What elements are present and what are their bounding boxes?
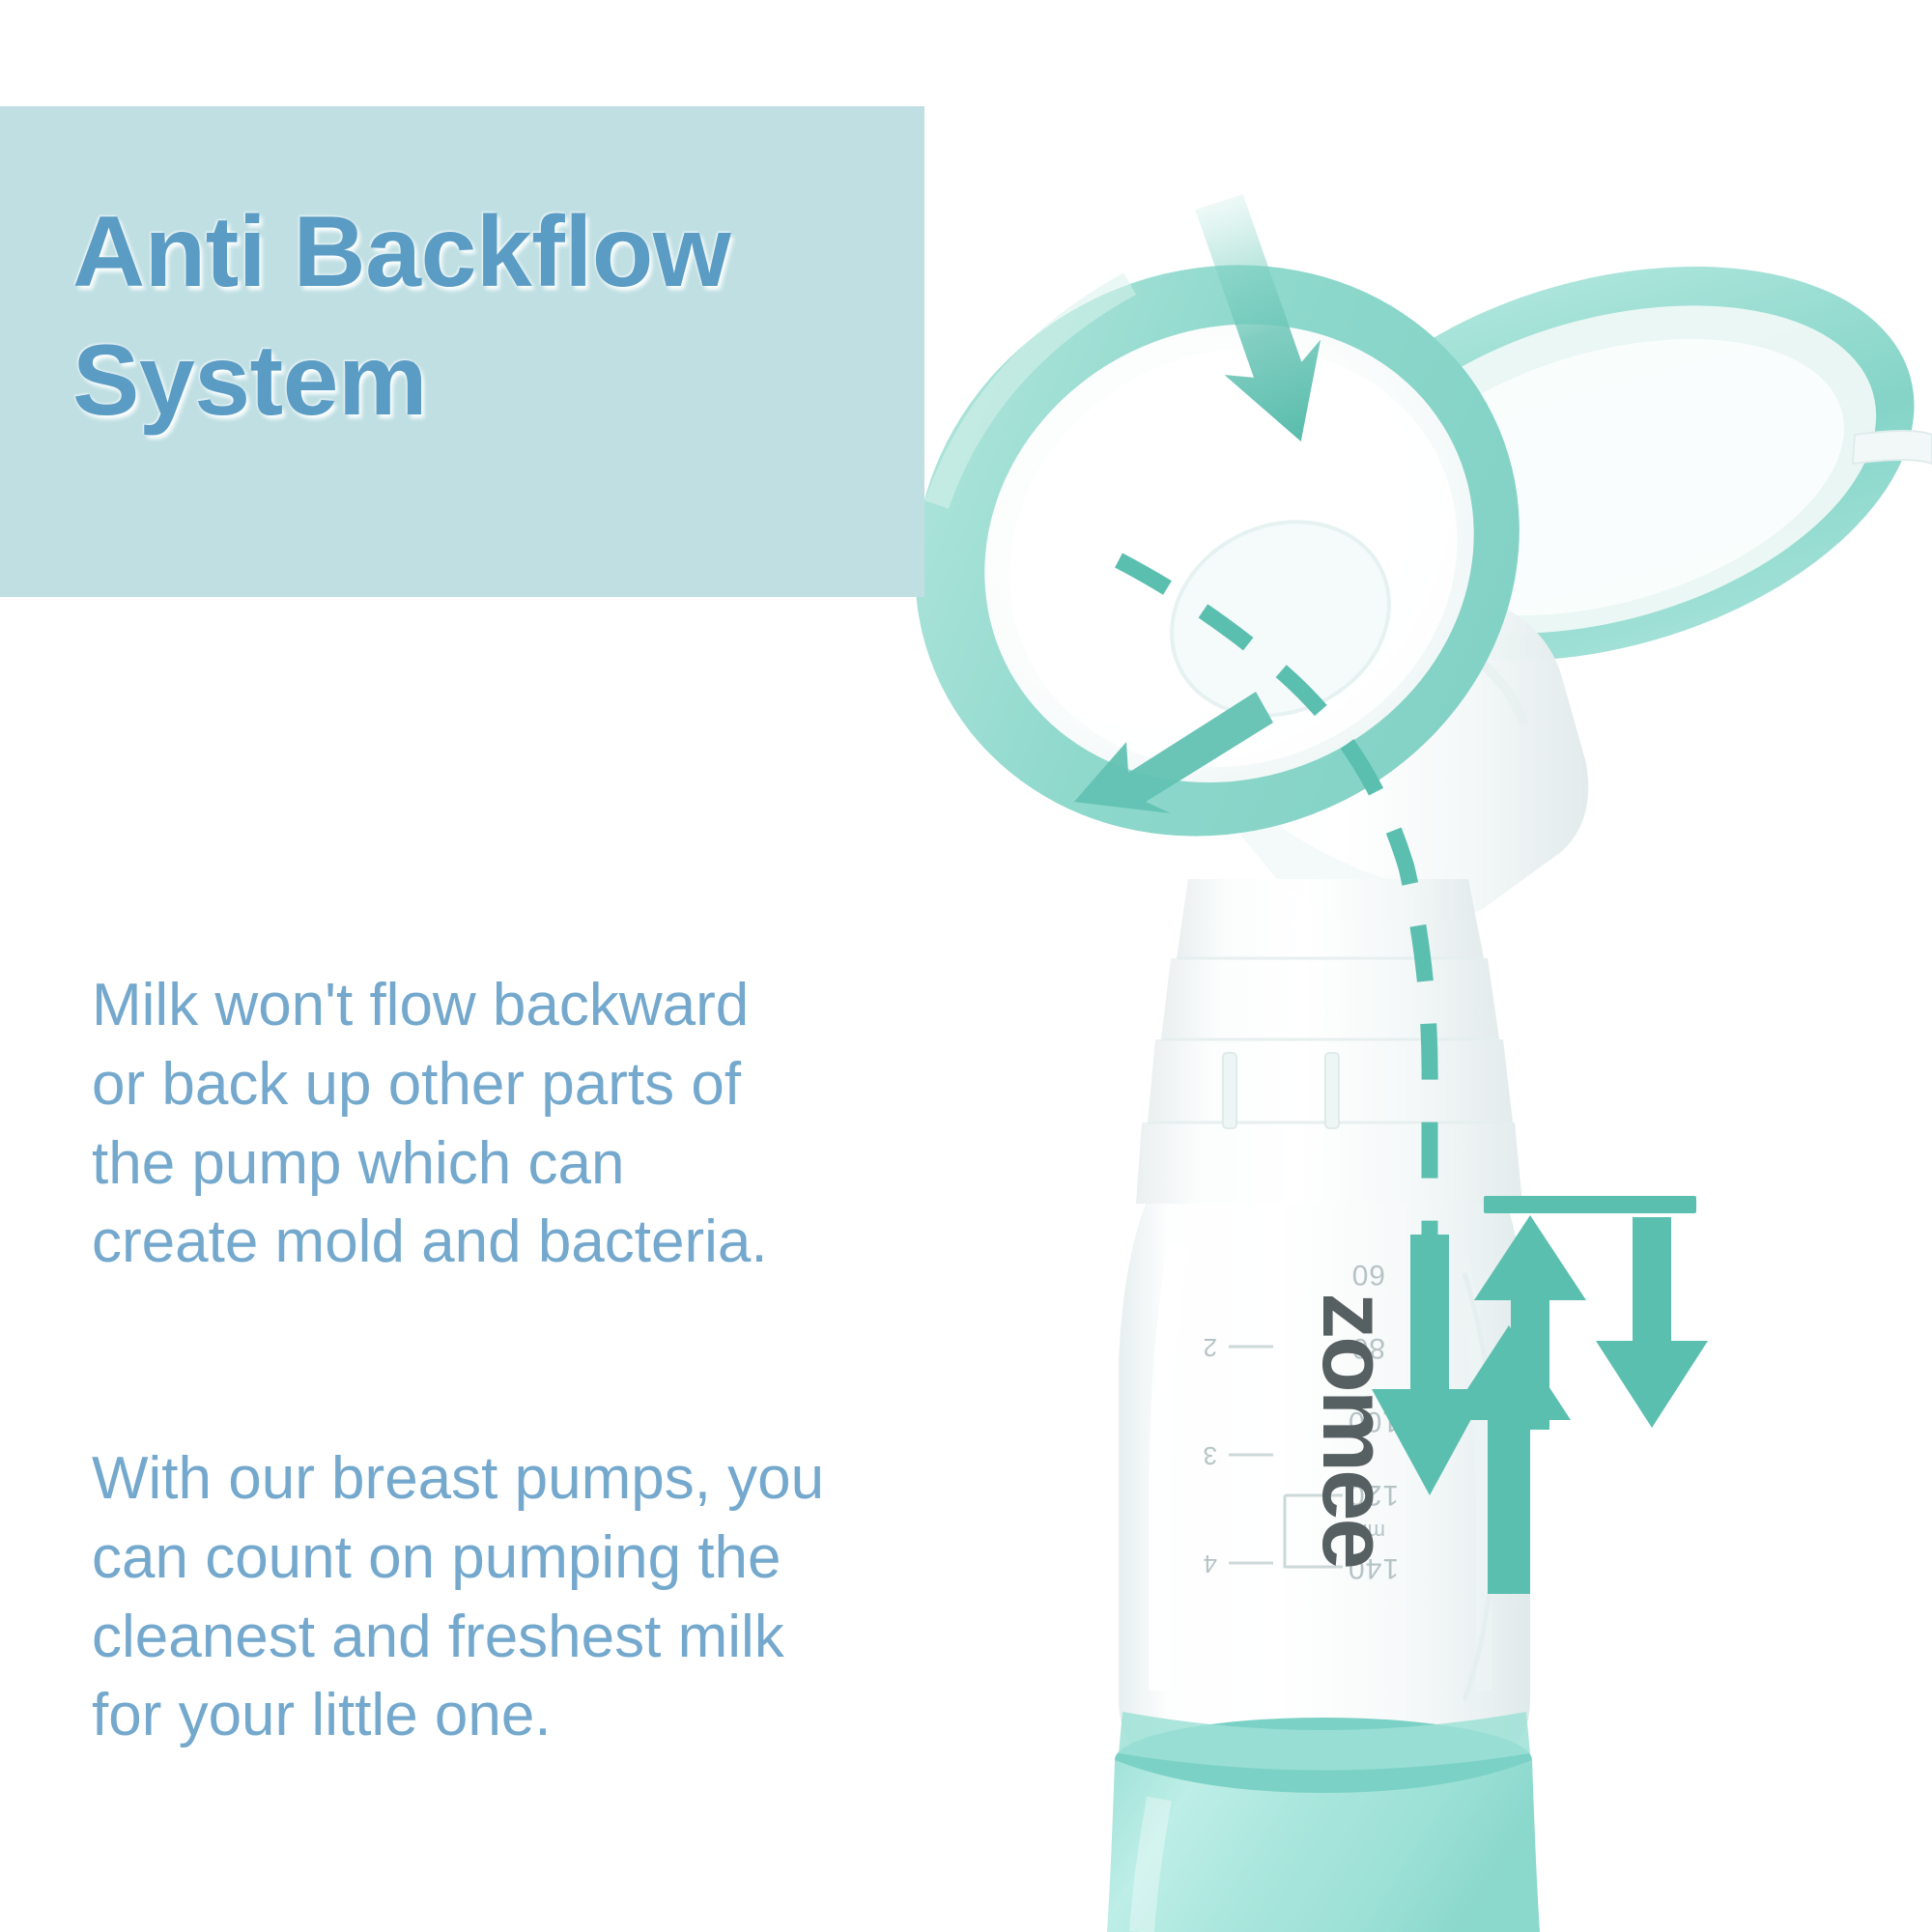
- feature-paragraph-1: Milk won't flow backward or back up othe…: [92, 966, 1058, 1282]
- svg-text:3: 3: [1204, 1441, 1217, 1470]
- svg-text:2: 2: [1204, 1333, 1217, 1362]
- zomee-brand-logo: zomee: [1303, 1293, 1406, 1567]
- svg-text:4: 4: [1204, 1549, 1217, 1578]
- page-title: Anti Backflow System: [72, 188, 884, 445]
- feature-paragraph-2: With our breast pumps, you can count on …: [92, 1439, 1058, 1755]
- tubing-stub: [1853, 431, 1932, 464]
- svg-text:60: 60: [1351, 1259, 1385, 1291]
- barrier-bar: [1484, 1196, 1696, 1213]
- valve-neck-stack: [1136, 879, 1522, 1204]
- promo-graphic-canvas: 140 ml 120 100 80 60 4 3 2 zomee: [0, 0, 1932, 1932]
- neck-second-down-arrow: [1596, 1217, 1708, 1428]
